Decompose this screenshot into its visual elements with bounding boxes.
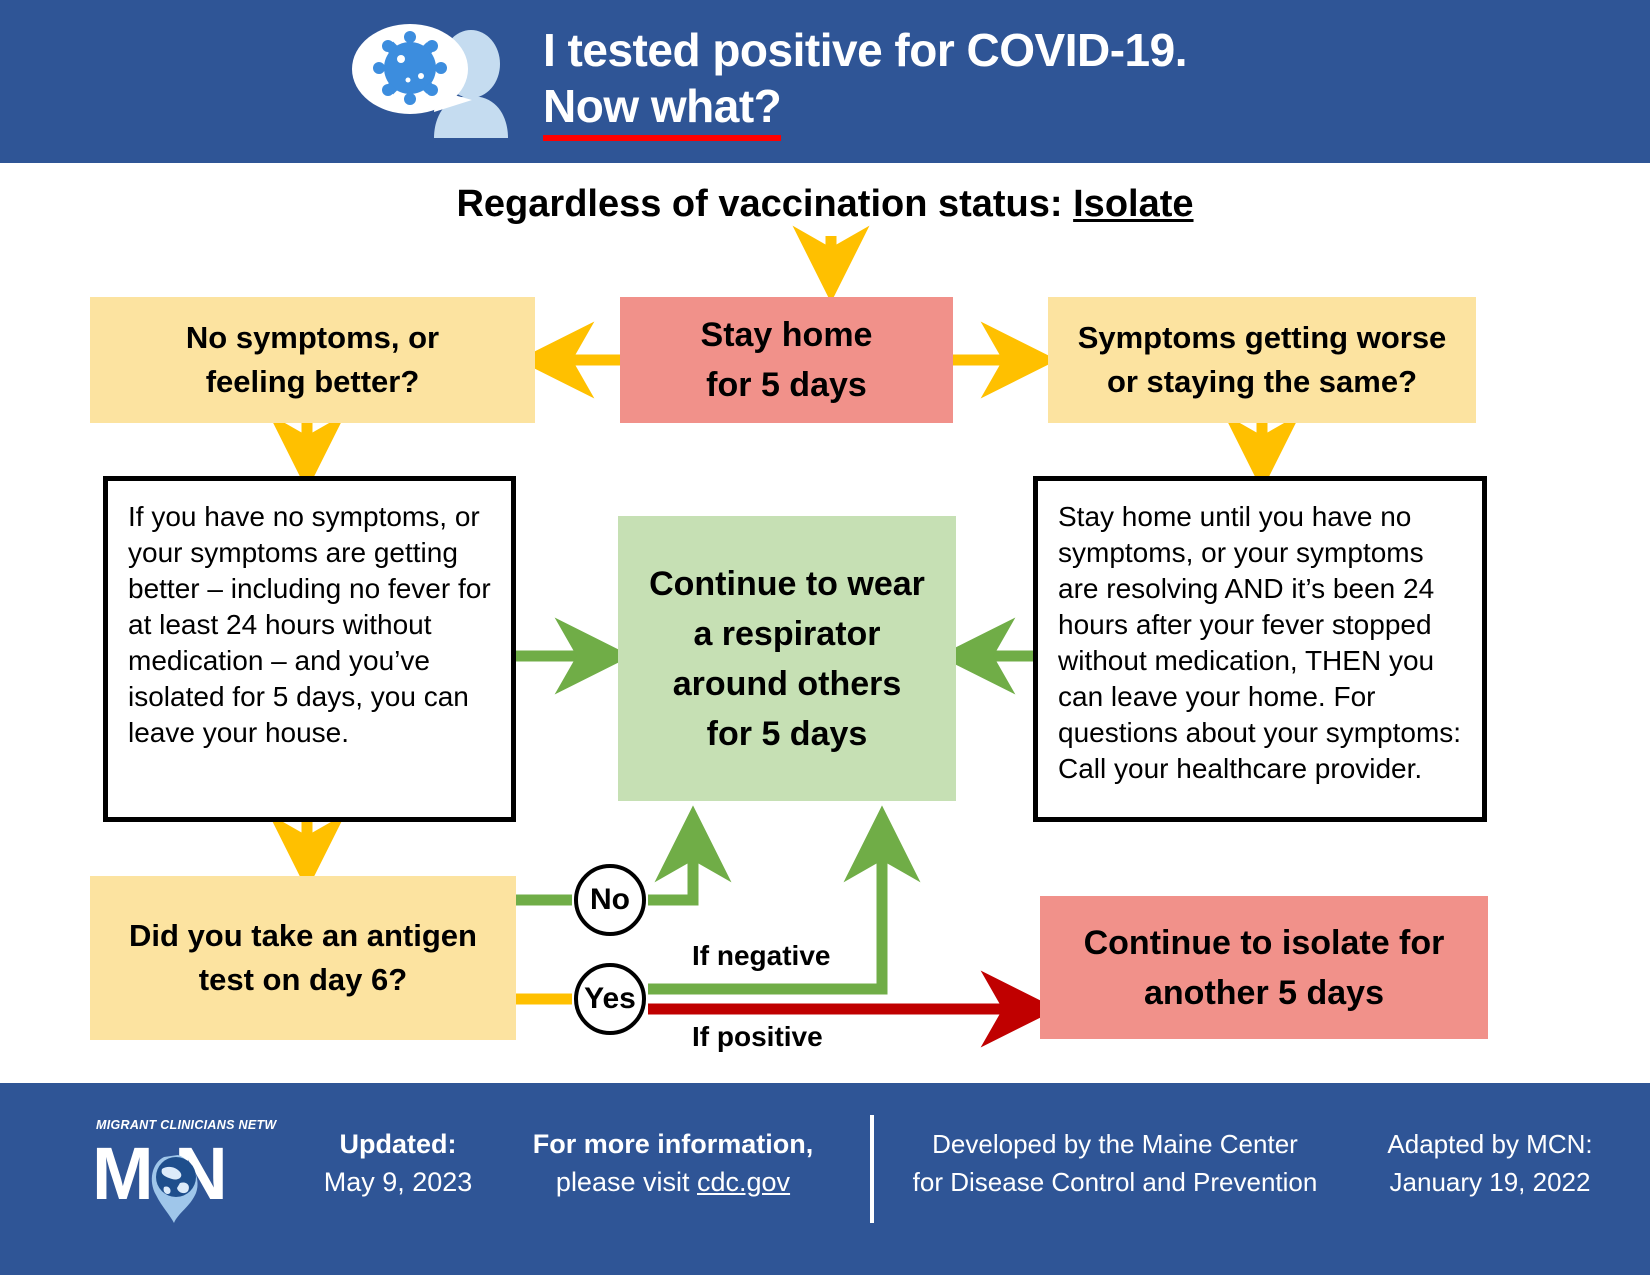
mcn-tagline: MIGRANT CLINICIANS NETWORK <box>96 1118 277 1132</box>
footer-adapted-line1: Adapted by MCN: <box>1360 1125 1620 1163</box>
node-symptoms-worse: Symptoms getting worse or staying the sa… <box>1048 297 1476 423</box>
footer-developed-line1: Developed by the Maine Center <box>895 1125 1335 1163</box>
continue-isolate-line2: another 5 days <box>1084 968 1445 1018</box>
flowchart-subtitle: Regardless of vaccination status: Isolat… <box>0 183 1650 226</box>
footer-developed-line2: for Disease Control and Prevention <box>895 1163 1335 1201</box>
footer-updated: Updated: May 9, 2023 <box>298 1125 498 1201</box>
respirator-line2: a respirator <box>649 609 925 659</box>
node-continue-isolate: Continue to isolate for another 5 days <box>1040 896 1488 1039</box>
edge-label-if-negative: If negative <box>692 940 830 972</box>
page-title-line2: Now what? <box>543 78 781 141</box>
respirator-line1: Continue to wear <box>649 559 925 609</box>
respirator-line3: around others <box>649 659 925 709</box>
antigen-line1: Did you take an antigen <box>129 914 477 958</box>
respirator-line4: for 5 days <box>649 709 925 759</box>
footer-more-info: For more information, please visit cdc.g… <box>508 1125 838 1201</box>
subtitle-text: Regardless of vaccination status: <box>456 183 1073 225</box>
left-detail-text: If you have no symptoms, or your symptom… <box>128 499 491 751</box>
virus-icon <box>373 31 447 105</box>
flowchart-canvas: Regardless of vaccination status: Isolat… <box>0 163 1650 1083</box>
footer-info-value: please visit cdc.gov <box>508 1163 838 1201</box>
decision-yes[interactable]: Yes <box>574 963 646 1035</box>
symptoms-worse-line1: Symptoms getting worse <box>1078 316 1447 360</box>
symptoms-worse-line2: or staying the same? <box>1078 360 1447 404</box>
page-title: I tested positive for COVID-19. Now what… <box>543 22 1443 141</box>
node-wear-respirator: Continue to wear a respirator around oth… <box>618 516 956 801</box>
footer-adapted-line2: January 19, 2022 <box>1360 1163 1620 1201</box>
node-right-detail: Stay home until you have no symptoms, or… <box>1033 476 1487 822</box>
covid-speech-bubble-person-icon <box>348 18 528 148</box>
no-symptoms-line2: feeling better? <box>186 360 439 404</box>
right-detail-text: Stay home until you have no symptoms, or… <box>1058 499 1462 787</box>
page-title-line1: I tested positive for COVID-19. <box>543 22 1443 78</box>
node-stay-home: Stay home for 5 days <box>620 297 953 423</box>
footer-info-prefix: please visit <box>556 1167 697 1197</box>
footer-updated-value: May 9, 2023 <box>298 1163 498 1201</box>
no-symptoms-line1: No symptoms, or <box>186 316 439 360</box>
footer-developed-by: Developed by the Maine Center for Diseas… <box>895 1125 1335 1201</box>
mcn-logo: MIGRANT CLINICIANS NETWORK M N <box>92 1115 277 1225</box>
subtitle-emphasis: Isolate <box>1073 183 1193 225</box>
decision-no[interactable]: No <box>574 864 646 936</box>
cdc-gov-link[interactable]: cdc.gov <box>697 1167 790 1197</box>
page-header: I tested positive for COVID-19. Now what… <box>0 0 1650 163</box>
page-footer: MIGRANT CLINICIANS NETWORK M N Updated: … <box>0 1083 1650 1275</box>
stay-home-line1: Stay home <box>701 310 873 360</box>
stay-home-line2: for 5 days <box>701 360 873 410</box>
edge-label-if-positive: If positive <box>692 1021 823 1053</box>
node-left-detail: If you have no symptoms, or your symptom… <box>103 476 516 822</box>
footer-info-label: For more information, <box>508 1125 838 1163</box>
antigen-line2: test on day 6? <box>129 958 477 1002</box>
footer-adapted-by: Adapted by MCN: January 19, 2022 <box>1360 1125 1620 1201</box>
continue-isolate-line1: Continue to isolate for <box>1084 918 1445 968</box>
node-antigen-test: Did you take an antigen test on day 6? <box>90 876 516 1040</box>
footer-updated-label: Updated: <box>298 1125 498 1163</box>
node-no-symptoms: No symptoms, or feeling better? <box>90 297 535 423</box>
footer-divider <box>870 1115 874 1223</box>
